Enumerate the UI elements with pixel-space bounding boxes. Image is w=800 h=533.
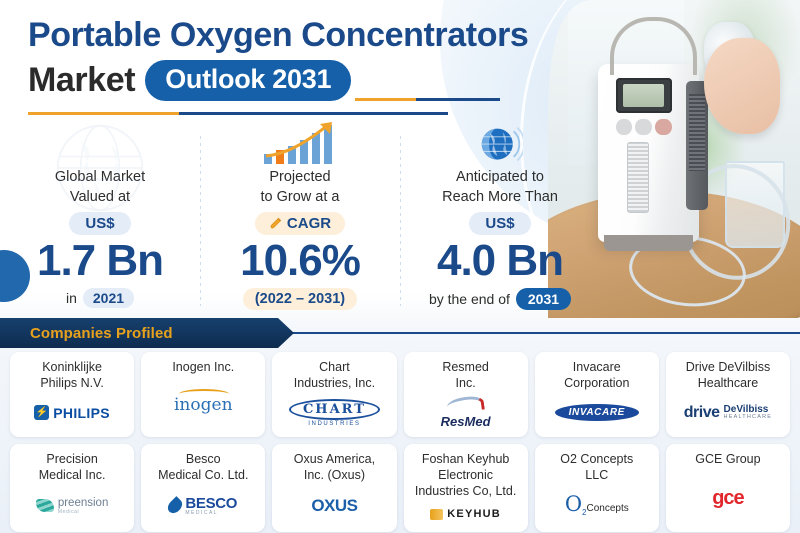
company-card-invacare: InvacareCorporation INVACARE xyxy=(535,352,659,437)
company-name: KoninklijkePhilips N.V. xyxy=(16,359,128,391)
company-name: PrecisionMedical Inc. xyxy=(16,451,128,483)
resmed-wordmark: ResMed xyxy=(441,414,491,429)
drive-wordmark: drive xyxy=(684,404,720,422)
company-card-gce-group: GCE Group gce xyxy=(666,444,790,532)
stat-forecast-value: Anticipated to Reach More Than US$ 4.0 B… xyxy=(400,122,600,312)
photo-side-grill xyxy=(689,94,705,171)
company-name: Foshan KeyhubElectronicIndustries Co, Lt… xyxy=(410,451,522,499)
rule-blue-segment xyxy=(416,98,500,101)
philips-shield-icon: ⚡ xyxy=(34,405,49,420)
stat-caption-line1: Anticipated to xyxy=(456,169,544,185)
rule-orange-segment xyxy=(28,112,179,115)
banner-rule xyxy=(292,332,800,334)
chart-sub-wordmark: INDUSTRIES xyxy=(308,421,360,427)
title-second-line: Market Outlook 2031 xyxy=(28,60,588,101)
devilbiss-sub-wordmark: HEALTHCARE xyxy=(724,415,773,421)
besco-droplet-icon xyxy=(165,496,185,516)
stat-caption-line2: Reach More Than xyxy=(442,189,558,205)
title-market-word: Market xyxy=(28,61,135,100)
invacare-logo: INVACARE xyxy=(541,394,653,431)
companies-row-1: KoninklijkePhilips N.V. ⚡ PHILIPS Inogen… xyxy=(10,352,790,437)
company-name: ChartIndustries, Inc. xyxy=(278,359,390,391)
besco-sub-wordmark: MEDICAL xyxy=(185,511,237,516)
precision-sub-wordmark: Medical xyxy=(58,510,109,516)
photo-button-alarm xyxy=(655,119,672,135)
resmed-swoosh-icon xyxy=(446,394,485,414)
company-name: Oxus America,Inc. (Oxus) xyxy=(278,451,390,483)
company-card-o2-concepts: O2 ConceptsLLC O2Concepts xyxy=(535,444,659,532)
stat-value: 4.0 Bn xyxy=(437,237,563,285)
company-card-oxus: Oxus America,Inc. (Oxus) OXUS xyxy=(272,444,396,532)
stat-sub-prefix: by the end of xyxy=(429,291,510,307)
stat-unit-pill-cagr: CAGR xyxy=(255,212,345,235)
photo-button xyxy=(635,119,652,135)
stat-caption-line2: Valued at xyxy=(70,189,130,205)
stat-caption-line1: Projected xyxy=(269,169,330,185)
stat-icon-slot xyxy=(477,122,523,166)
photo-side-module xyxy=(686,81,708,209)
company-name: O2 ConceptsLLC xyxy=(541,451,653,483)
cagr-label: CAGR xyxy=(287,215,331,232)
stat-unit-pill: US$ xyxy=(469,212,530,235)
company-name: Inogen Inc. xyxy=(147,359,259,375)
stat-sub-pill: 2031 xyxy=(516,288,571,310)
oxus-logo: OXUS xyxy=(278,486,390,526)
stat-subline: (2022 – 2031) xyxy=(243,288,357,310)
companies-grid: KoninklijkePhilips N.V. ⚡ PHILIPS Inogen… xyxy=(10,352,790,533)
oxus-wordmark: OXUS xyxy=(311,496,357,516)
stat-caption: Global Market Valued at xyxy=(55,168,145,207)
invacare-wordmark: INVACARE xyxy=(555,404,639,421)
precision-medical-logo: preension Medical xyxy=(16,486,128,526)
title-rule-under xyxy=(28,112,448,115)
stat-value: 10.6% xyxy=(240,237,360,285)
company-card-drive-devilbiss: Drive DeVilbissHealthcare drive DeVilbis… xyxy=(666,352,790,437)
company-name: GCE Group xyxy=(672,451,784,467)
inogen-logo: inogen xyxy=(147,378,259,431)
company-card-precision-medical: PrecisionMedical Inc. preension Medical xyxy=(10,444,134,532)
photo-lcd-display xyxy=(623,84,664,107)
precision-wordmark: preension xyxy=(58,497,109,510)
photo-base-foot xyxy=(604,235,693,251)
o2-letter-o: O xyxy=(565,492,582,516)
photo-front-vent xyxy=(627,142,649,213)
precision-medical-mark-icon xyxy=(36,499,54,512)
stat-value: 1.7 Bn xyxy=(37,237,163,285)
keyhub-wordmark: KEYHUB xyxy=(447,508,501,520)
chart-industries-logo: CHART INDUSTRIES xyxy=(278,394,390,431)
o2-concepts-wordmark: Concepts xyxy=(586,503,628,514)
resmed-logo: ResMed xyxy=(410,394,522,431)
header: Portable Oxygen Concentrators Market Out… xyxy=(28,18,588,101)
besco-logo: BESCO MEDICAL xyxy=(147,486,259,526)
infographic-root: Portable Oxygen Concentrators Market Out… xyxy=(0,0,800,533)
stat-sub-prefix: in xyxy=(66,290,77,306)
company-card-foshan-keyhub: Foshan KeyhubElectronicIndustries Co, Lt… xyxy=(404,444,528,532)
stat-icon-slot xyxy=(260,122,340,166)
pencil-icon xyxy=(269,216,283,230)
company-card-inogen: Inogen Inc. inogen xyxy=(141,352,265,437)
company-name: Drive DeVilbissHealthcare xyxy=(672,359,784,391)
philips-wordmark: PHILIPS xyxy=(53,405,110,421)
stat-unit-pill: US$ xyxy=(69,212,130,235)
philips-logo: ⚡ PHILIPS xyxy=(16,394,128,431)
company-card-besco: BescoMedical Co. Ltd. BESCO MEDICAL xyxy=(141,444,265,532)
company-card-resmed: ResmedInc. ResMed xyxy=(404,352,528,437)
companies-banner-wrap: Companies Profiled xyxy=(0,318,800,348)
besco-wordmark: BESCO xyxy=(185,496,237,511)
company-name: BescoMedical Co. Ltd. xyxy=(147,451,259,483)
stat-subline: by the end of 2031 xyxy=(429,288,571,310)
stat-sub-pill: (2022 – 2031) xyxy=(243,288,357,310)
gce-wordmark: gce xyxy=(712,487,743,510)
outlook-pill: Outlook 2031 xyxy=(145,60,351,101)
stat-cagr: Projected to Grow at a CAGR 10.6% (2022 … xyxy=(200,122,400,312)
stats-row: Global Market Valued at US$ 1.7 Bn in 20… xyxy=(0,122,600,312)
company-name: ResmedInc. xyxy=(410,359,522,391)
chart-wordmark: CHART xyxy=(289,399,380,420)
inogen-wordmark: inogen xyxy=(174,395,233,415)
page-title: Portable Oxygen Concentrators xyxy=(28,18,588,52)
company-name: InvacareCorporation xyxy=(541,359,653,391)
photo-button-row xyxy=(616,119,672,135)
inogen-swoosh-icon xyxy=(179,389,229,399)
title-rule-right xyxy=(355,98,500,101)
photo-button xyxy=(616,119,633,135)
bar-chart-growth-icon xyxy=(260,120,340,166)
companies-row-2: PrecisionMedical Inc. preension Medical … xyxy=(10,444,790,532)
stat-caption: Anticipated to Reach More Than xyxy=(442,168,558,207)
gce-logo: gce xyxy=(672,470,784,526)
o2-concepts-logo: O2Concepts xyxy=(541,486,653,526)
drive-devilbiss-logo: drive DeVilbiss HEALTHCARE xyxy=(672,394,784,431)
globe-network-icon xyxy=(477,124,523,166)
companies-banner: Companies Profiled xyxy=(0,318,294,348)
stat-caption-line1: Global Market xyxy=(55,169,145,185)
photo-control-panel xyxy=(616,78,672,114)
company-card-chart-industries: ChartIndustries, Inc. CHART INDUSTRIES xyxy=(272,352,396,437)
photo-oxygen-concentrator xyxy=(598,64,699,242)
keyhub-logo: KEYHUB xyxy=(410,502,522,526)
stat-subline: in 2021 xyxy=(66,288,134,308)
stat-global-market-value: Global Market Valued at US$ 1.7 Bn in 20… xyxy=(0,122,200,312)
rule-blue-segment xyxy=(179,112,448,115)
photo-hand xyxy=(704,38,780,133)
rule-orange-segment xyxy=(355,98,416,101)
stat-sub-pill: 2021 xyxy=(83,288,134,308)
keyhub-mark-icon xyxy=(430,509,443,520)
stat-caption-line2: to Grow at a xyxy=(261,189,340,205)
company-card-philips: KoninklijkePhilips N.V. ⚡ PHILIPS xyxy=(10,352,134,437)
stat-caption: Projected to Grow at a xyxy=(261,168,340,207)
